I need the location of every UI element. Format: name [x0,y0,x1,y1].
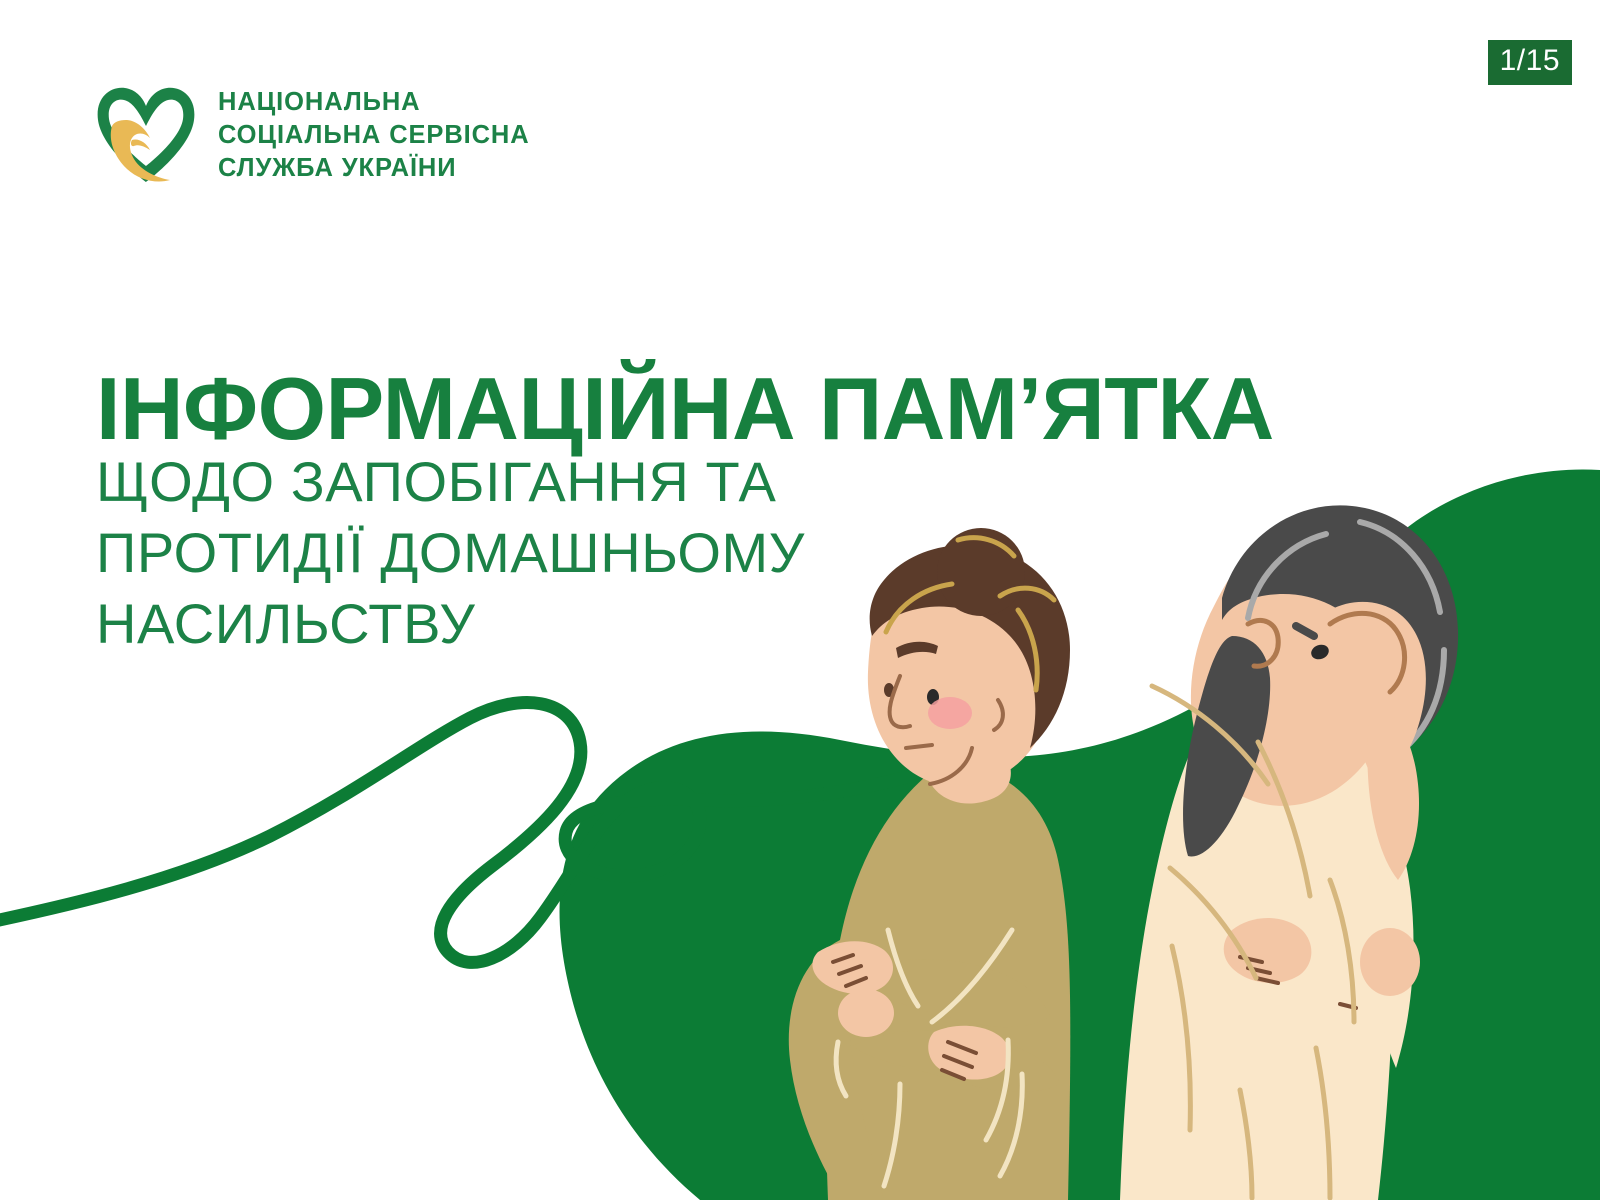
logo-line-2: СОЦІАЛЬНА СЕРВІСНА [218,120,530,150]
man-finger-lines [1240,957,1356,1008]
man-hair [1222,505,1458,766]
man-shirt [1120,695,1394,1200]
man-sleeve-raised [1340,760,1414,1068]
man-finger-curve [1330,613,1405,692]
woman-hair [870,545,1070,748]
page-indicator-badge: 1/15 [1488,40,1572,85]
woman-eye [927,689,939,705]
man-ear [1248,620,1278,666]
woman-sweater-folds [836,930,1022,1186]
slide-canvas: НАЦІОНАЛЬНА СОЦІАЛЬНА СЕРВІСНА СЛУЖБА УК… [0,0,1600,1200]
logo-line-1: НАЦІОНАЛЬНА [218,87,530,117]
logo-hand-thumb [131,139,150,150]
woman-blush [928,697,972,729]
subtitle-line-2: ПРОТИДІЇ ДОМАШНЬОМУ [96,517,896,588]
woman-face-lines [890,676,1003,784]
man-neck [1194,646,1279,731]
page-subtitle: ЩОДО ЗАПОБІГАННЯ ТА ПРОТИДІЇ ДОМАШНЬОМУ … [96,446,896,659]
man-hand-grip [1224,918,1312,983]
man-beard [1183,636,1270,857]
woman-hair-bun [937,528,1025,616]
green-swirl-line [0,703,1010,963]
man-eyebrow [1296,626,1314,636]
woman-hand-lower [928,1026,1010,1080]
logo-wordmark: НАЦІОНАЛЬНА СОЦІАЛЬНА СЕРВІСНА СЛУЖБА УК… [218,87,530,183]
man-eye [1309,642,1331,661]
woman-hair-highlights [886,538,1054,690]
logo-hand-shape [111,120,170,182]
subtitle-line-1: ЩОДО ЗАПОБІГАННЯ ТА [96,446,896,517]
subtitle-line-3: НАСИЛЬСТВУ [96,588,896,659]
woman-arm-upper [848,959,1050,1027]
woman-arm-lower [852,1030,1060,1092]
woman-hand-upper [812,941,893,994]
man-forearm [1367,700,1419,880]
woman-eye-far [884,683,894,697]
woman-neck [925,725,1011,804]
man-hair-highlights [1248,522,1444,752]
man-head [1191,550,1395,806]
woman-eyebrow [896,642,938,658]
man-arm-crossed [1150,873,1364,949]
woman-sleeve-left [789,940,884,1200]
logo-line-3: СЛУЖБА УКРАЇНИ [218,153,530,183]
man-elbow [1360,928,1420,996]
man-shirt-folds [1152,686,1354,1198]
woman-sweater [826,760,1070,1200]
heart-hand-logo-icon [92,82,200,188]
man-figure [1120,505,1458,1200]
organization-logo: НАЦІОНАЛЬНА СОЦІАЛЬНА СЕРВІСНА СЛУЖБА УК… [92,82,530,188]
woman-elbow [838,989,894,1037]
woman-finger-lines [833,955,976,1079]
page-title: ІНФОРМАЦІЙНА ПАМ’ЯТКА [96,365,1536,453]
man-hand-forehead [1330,602,1426,784]
